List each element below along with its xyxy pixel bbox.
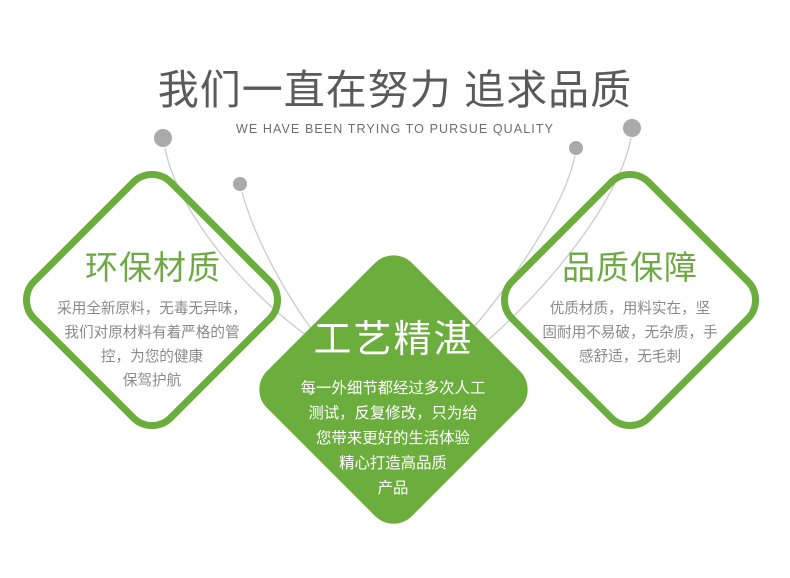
feature-card-title: 品质保障 — [530, 248, 730, 288]
feature-card-quality-guarantee[interactable]: 品质保障 优质材质，用料实在，坚 固耐用不易破，无杂质，手 感舒适，无毛刺 — [530, 200, 730, 400]
feature-card-content: 环保材质 采用全新原料，无毒无异味， 我们对原材料有着严格的管 控，为您的健康 … — [52, 248, 252, 393]
feature-card-body: 优质材质，用料实在，坚 固耐用不易破，无杂质，手 感舒适，无毛刺 — [505, 297, 755, 369]
page-subtitle: WE HAVE BEEN TRYING TO PURSUE QUALITY — [0, 122, 790, 136]
page-root: 我们一直在努力 追求品质 WE HAVE BEEN TRYING TO PURS… — [0, 0, 790, 578]
feature-card-title: 工艺精湛 — [291, 317, 496, 363]
decor-dot-2 — [233, 177, 247, 191]
feature-card-eco-material[interactable]: 环保材质 采用全新原料，无毒无异味， 我们对原材料有着严格的管 控，为您的健康 … — [52, 200, 252, 400]
page-header: 我们一直在努力 追求品质 WE HAVE BEEN TRYING TO PURS… — [0, 66, 790, 136]
feature-card-body: 每一外细节都经过多次人工 测试，反复修改，只为给 您带来更好的生活体验 精心打造… — [258, 376, 528, 501]
feature-card-title: 环保材质 — [52, 248, 252, 288]
feature-card-craftsmanship[interactable]: 工艺精湛 每一外细节都经过多次人工 测试，反复修改，只为给 您带来更好的生活体验… — [291, 287, 496, 492]
feature-card-content: 工艺精湛 每一外细节都经过多次人工 测试，反复修改，只为给 您带来更好的生活体验… — [291, 317, 496, 501]
decor-dot-3 — [569, 141, 583, 155]
page-title: 我们一直在努力 追求品质 — [0, 66, 790, 114]
feature-card-content: 品质保障 优质材质，用料实在，坚 固耐用不易破，无杂质，手 感舒适，无毛刺 — [530, 248, 730, 369]
feature-card-body: 采用全新原料，无毒无异味， 我们对原材料有着严格的管 控，为您的健康 保驾护航 — [27, 297, 277, 393]
